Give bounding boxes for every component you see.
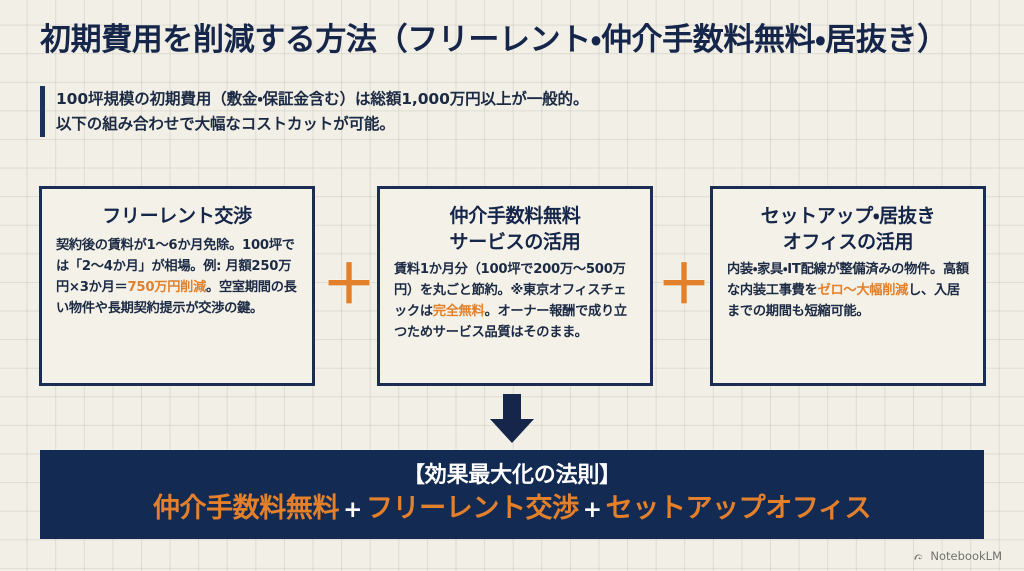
method-card-no-brokerage-fee: 仲介手数料無料 サービスの活用 賃料1か月分（100坪で200万〜500万円）を…: [377, 186, 653, 386]
watermark-label: NotebookLM: [930, 549, 1002, 563]
card-title: フリーレント交渉: [56, 203, 298, 229]
card-title: 仲介手数料無料 サービスの活用: [394, 203, 636, 255]
card-title: セットアップ・居抜き オフィスの活用: [727, 203, 969, 255]
conclusion-banner: 【効果最大化の法則】 仲介手数料無料+フリーレント交渉+セットアップオフィス: [40, 450, 984, 539]
banner-operator-1: +: [339, 497, 366, 523]
card-title-line-2: サービスの活用: [394, 229, 636, 255]
method-card-free-rent: フリーレント交渉 契約後の賃料が1〜6か月免除。100坪では「2〜4か月」が相場…: [39, 186, 315, 386]
card-body: 賃料1か月分（100坪で200万〜500万円）を丸ごと節約。※東京オフィスチェッ…: [394, 259, 636, 343]
banner-operator-2: +: [579, 497, 606, 523]
page-title: 初期費用を削減する方法（フリーレント・仲介手数料無料・居抜き）: [40, 23, 990, 59]
highlighted-text: 750万円削減: [127, 280, 206, 295]
subtitle-line-2: 以下の組み合わせで大幅なコストカットが可能。: [56, 112, 588, 137]
method-card-setup-office: セットアップ・居抜き オフィスの活用 内装・家具・IT配線が整備済みの物件。高額…: [710, 186, 986, 386]
plus-icon: ＋: [657, 262, 703, 308]
body-text: 契約後の賃料が1〜6か月免除。: [56, 238, 242, 253]
card-title-line-1: セットアップ・居抜き: [727, 203, 969, 229]
notebooklm-watermark: NotebookLM: [912, 549, 1002, 563]
subtitle-text: 100坪規模の初期費用（敷金・保証金含む）は総額1,000万円以上が一般的。 以…: [56, 86, 588, 137]
method-cards-row: フリーレント交渉 契約後の賃料が1〜6か月免除。100坪では「2〜4か月」が相場…: [0, 186, 1024, 391]
card-body: 内装・家具・IT配線が整備済みの物件。高額な内装工事費をゼロ〜大幅削減し、入居ま…: [727, 259, 969, 322]
down-arrow-icon: [489, 394, 535, 444]
subtitle-accent-bar: [40, 86, 45, 137]
card-title-line-1: 仲介手数料無料: [394, 203, 636, 229]
banner-term-1: 仲介手数料無料: [153, 493, 339, 524]
card-body: 契約後の賃料が1〜6か月免除。100坪では「2〜4か月」が相場。例: 月額250…: [56, 235, 298, 319]
body-text: 内装・家具・IT配線が整備済みの物件。: [727, 262, 943, 277]
infographic-slide: 初期費用を削減する方法（フリーレント・仲介手数料無料・居抜き） 100坪規模の初…: [0, 0, 1024, 571]
subtitle-block: 100坪規模の初期費用（敷金・保証金含む）は総額1,000万円以上が一般的。 以…: [40, 86, 588, 137]
highlighted-text: 完全無料: [433, 304, 485, 319]
banner-formula: 仲介手数料無料+フリーレント交渉+セットアップオフィス: [153, 492, 871, 527]
highlighted-text: ゼロ〜大幅削減: [818, 283, 909, 298]
banner-heading: 【効果最大化の法則】: [403, 462, 621, 490]
subtitle-line-1: 100坪規模の初期費用（敷金・保証金含む）は総額1,000万円以上が一般的。: [56, 87, 588, 112]
notebooklm-logo-icon: [912, 550, 925, 563]
banner-term-2: フリーレント交渉: [366, 493, 579, 524]
card-title-line-1: フリーレント交渉: [102, 205, 252, 227]
card-title-line-2: オフィスの活用: [727, 229, 969, 255]
plus-icon: ＋: [322, 262, 368, 308]
banner-term-3: セットアップオフィス: [606, 493, 871, 524]
